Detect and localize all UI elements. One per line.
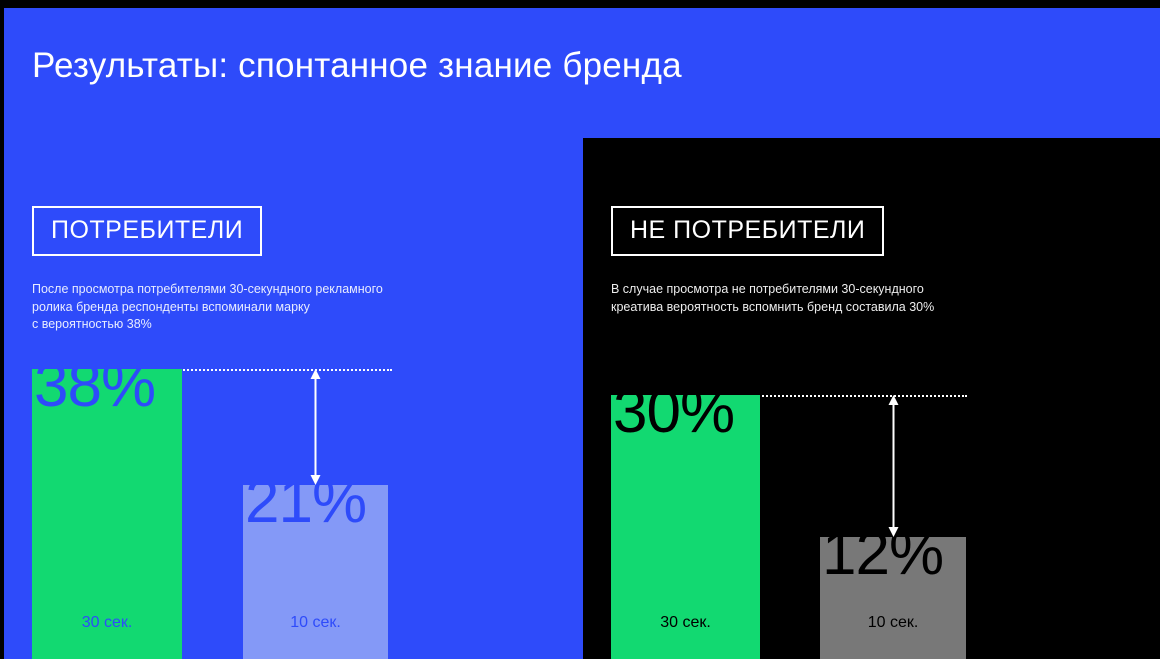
badge-consumers: ПОТРЕБИТЕЛИ	[32, 206, 262, 256]
bar-consumers-30sec: 38% 30 сек.	[32, 369, 182, 659]
chart-consumers: 38% 30 сек. 21% 10 сек.	[32, 369, 392, 659]
section-consumers: ПОТРЕБИТЕЛИ После просмотра потребителям…	[0, 0, 583, 659]
double-arrow-icon	[887, 395, 900, 537]
gap-arrow-consumers	[309, 369, 322, 485]
badge-non-consumers: НЕ ПОТРЕБИТЕЛИ	[611, 206, 884, 256]
bar-value-non-consumers-10sec: 12%	[822, 537, 943, 585]
bar-caption-non-consumers-30sec: 30 сек.	[611, 613, 760, 633]
double-arrow-icon	[309, 369, 322, 485]
bar-caption-consumers-10sec: 10 сек.	[243, 613, 388, 633]
bar-value-consumers-30sec: 38%	[34, 369, 155, 417]
gap-arrow-non-consumers	[887, 395, 900, 537]
bar-non-consumers-30sec: 30% 30 сек.	[611, 395, 760, 659]
bar-non-consumers-10sec: 12% 10 сек.	[820, 537, 966, 659]
description-consumers: После просмотра потребителями 30-секундн…	[32, 281, 552, 334]
bar-value-non-consumers-30sec: 30%	[613, 395, 734, 443]
description-non-consumers: В случае просмотра не потребителями 30-с…	[611, 281, 1111, 316]
bar-caption-non-consumers-10sec: 10 сек.	[820, 613, 966, 633]
chart-non-consumers: 30% 30 сек. 12% 10 сек.	[611, 395, 967, 659]
section-non-consumers: НЕ ПОТРЕБИТЕЛИ В случае просмотра не пот…	[583, 0, 1160, 659]
bar-value-consumers-10sec: 21%	[245, 485, 366, 533]
slide-root: Результаты: спонтанное знание бренда ПОТ…	[0, 0, 1160, 659]
bar-caption-consumers-30sec: 30 сек.	[32, 613, 182, 633]
bar-consumers-10sec: 21% 10 сек.	[243, 485, 388, 659]
